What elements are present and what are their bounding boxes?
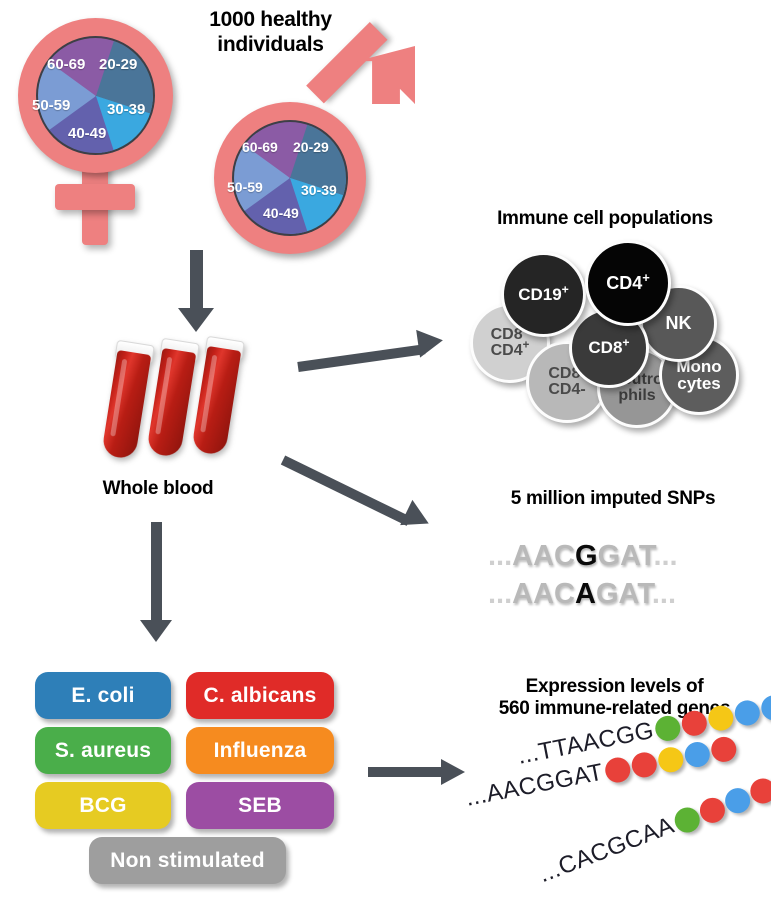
snp-bottom-suffix: ... (652, 578, 676, 610)
rna-bead (759, 693, 771, 722)
stimulus-s-aureus[interactable]: S. aureus (35, 727, 171, 774)
rna-strand-3-sequence: ...CACGCAA (535, 812, 678, 889)
rna-bead (680, 708, 709, 737)
snp-sequence-bottom: ...AACAGAT... (488, 578, 676, 611)
rna-bead (696, 794, 728, 826)
stimulus-e-coli[interactable]: E. coli (35, 672, 171, 719)
expression-title-line1: Expression levels of (462, 676, 767, 698)
snp-bottom-right: GAT (596, 578, 652, 610)
cell-cd4: CD4+ (585, 240, 671, 326)
cell-cd8pos-label: CD8+ (588, 339, 629, 357)
cell-cd19-label: CD19+ (518, 286, 569, 304)
arrow-blood-to-stimuli-head (140, 620, 172, 642)
arrow-stimuli-to-expression-head (441, 759, 465, 785)
arrow-stimuli-to-expression-shaft (368, 767, 443, 777)
rna-bead (603, 755, 632, 784)
snp-sequence-top: ...AACGGAT... (488, 540, 678, 573)
snp-top-suffix: ... (653, 540, 677, 572)
snp-top-variant: G (575, 540, 598, 572)
cell-nk-label: NK (666, 314, 692, 333)
cell-cd19: CD19+ (501, 252, 586, 337)
whole-blood-label: Whole blood (78, 478, 238, 500)
snp-top-right: GAT (598, 540, 654, 572)
rna-bead (709, 734, 738, 763)
snp-bottom-prefix: ... (488, 578, 512, 610)
arrow-blood-to-stimuli-shaft (151, 522, 162, 622)
arrow-blood-to-snps-shaft (281, 456, 411, 526)
rna-bead (706, 703, 735, 732)
snp-top-prefix: ... (488, 540, 512, 572)
cell-cd4-label: CD4+ (606, 274, 650, 293)
snp-bottom-variant: A (575, 578, 596, 610)
stimulus-non-stimulated[interactable]: Non stimulated (89, 837, 286, 884)
stimulus-c-albicans[interactable]: C. albicans (186, 672, 334, 719)
rna-bead (721, 784, 753, 816)
immune-cell-cluster: CD8+CD4+ CD8-CD4- Neutrophils Monocytes … (0, 0, 771, 450)
rna-bead (653, 713, 682, 742)
cell-monocytes-label: Monocytes (676, 358, 721, 393)
stimulus-bcg[interactable]: BCG (35, 782, 171, 829)
stimulus-seb[interactable]: SEB (186, 782, 334, 829)
snps-title: 5 million imputed SNPs (468, 488, 758, 510)
rna-bead (629, 750, 658, 779)
stimulus-influenza[interactable]: Influenza (186, 727, 334, 774)
rna-bead (733, 698, 762, 727)
arrow-blood-to-snps-head (400, 500, 435, 536)
snp-bottom-left: AAC (512, 578, 575, 610)
rna-bead (656, 745, 685, 774)
snp-top-left: AAC (512, 540, 575, 572)
rna-bead (682, 739, 711, 768)
